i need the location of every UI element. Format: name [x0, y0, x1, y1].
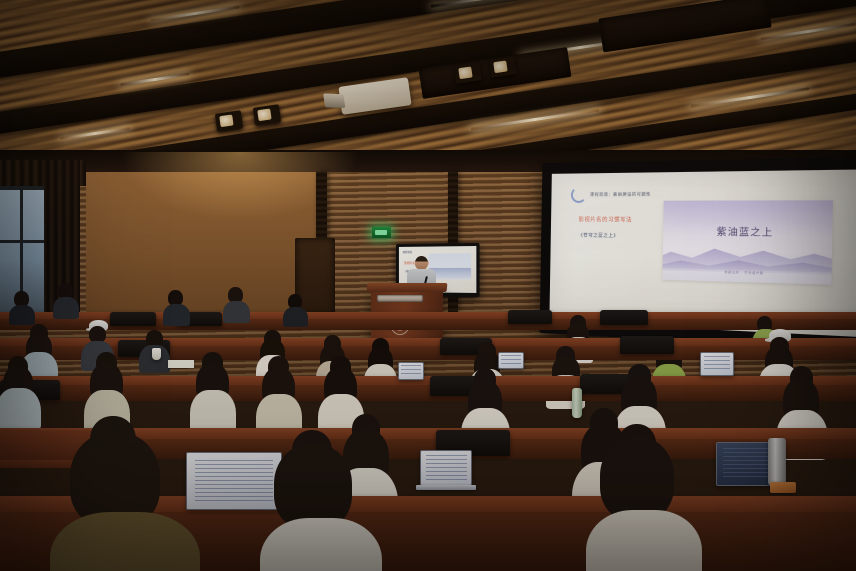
- ceiling-spotlight-icon: [489, 56, 517, 77]
- seat-back: [508, 310, 552, 324]
- ceiling-spotlight-icon: [215, 110, 243, 131]
- slide-artwork: 紫油蓝之上 水彩山水 · 片头设计稿: [662, 200, 833, 285]
- laptop: [498, 352, 524, 369]
- lectern-control-panel[interactable]: [377, 295, 423, 302]
- badge-arc-icon: [571, 186, 587, 202]
- monitor-badge-text: 课程思政: [403, 250, 412, 254]
- ceiling-spotlight-icon: [253, 104, 281, 125]
- laptop-base[interactable]: [416, 485, 476, 490]
- lecture-hall-photo: 课程思政：美丽建设的可能性 影视片名的习惯写法 《苍穹之蓝之上》 紫油蓝之上 水…: [0, 0, 856, 571]
- slide-badge: 课程思政：美丽建设的可能性: [571, 186, 651, 203]
- slide-heading-red: 影视片名的习惯写法: [578, 215, 632, 224]
- artwork-title: 紫油蓝之上: [716, 225, 773, 240]
- laptop: [420, 450, 472, 486]
- laptop: [700, 352, 734, 376]
- seat-back: [110, 312, 156, 326]
- artwork-caption: 水彩山水 · 片头设计稿: [724, 270, 764, 275]
- thermos-bottle: [768, 438, 786, 486]
- smartphone[interactable]: [770, 482, 796, 493]
- lectern-top: [367, 283, 448, 292]
- paper-cup: [152, 348, 161, 360]
- slide-badge-text: 课程思政：美丽建设的可能性: [590, 191, 651, 198]
- laptop-foreground: [186, 452, 282, 510]
- ceiling-spotlight-icon: [454, 62, 482, 83]
- seat-back: [620, 336, 674, 354]
- seat-back: [600, 310, 648, 325]
- thermos-bottle: [572, 388, 582, 418]
- exit-sign-icon: [372, 227, 391, 238]
- papers: [168, 360, 194, 368]
- slide-subheading-blue: 《苍穹之蓝之上》: [578, 233, 618, 240]
- slide-content: 课程思政：美丽建设的可能性 影视片名的习惯写法 《苍穹之蓝之上》 紫油蓝之上 水…: [564, 181, 856, 315]
- laptop: [398, 362, 424, 380]
- presenter-head: [415, 256, 428, 270]
